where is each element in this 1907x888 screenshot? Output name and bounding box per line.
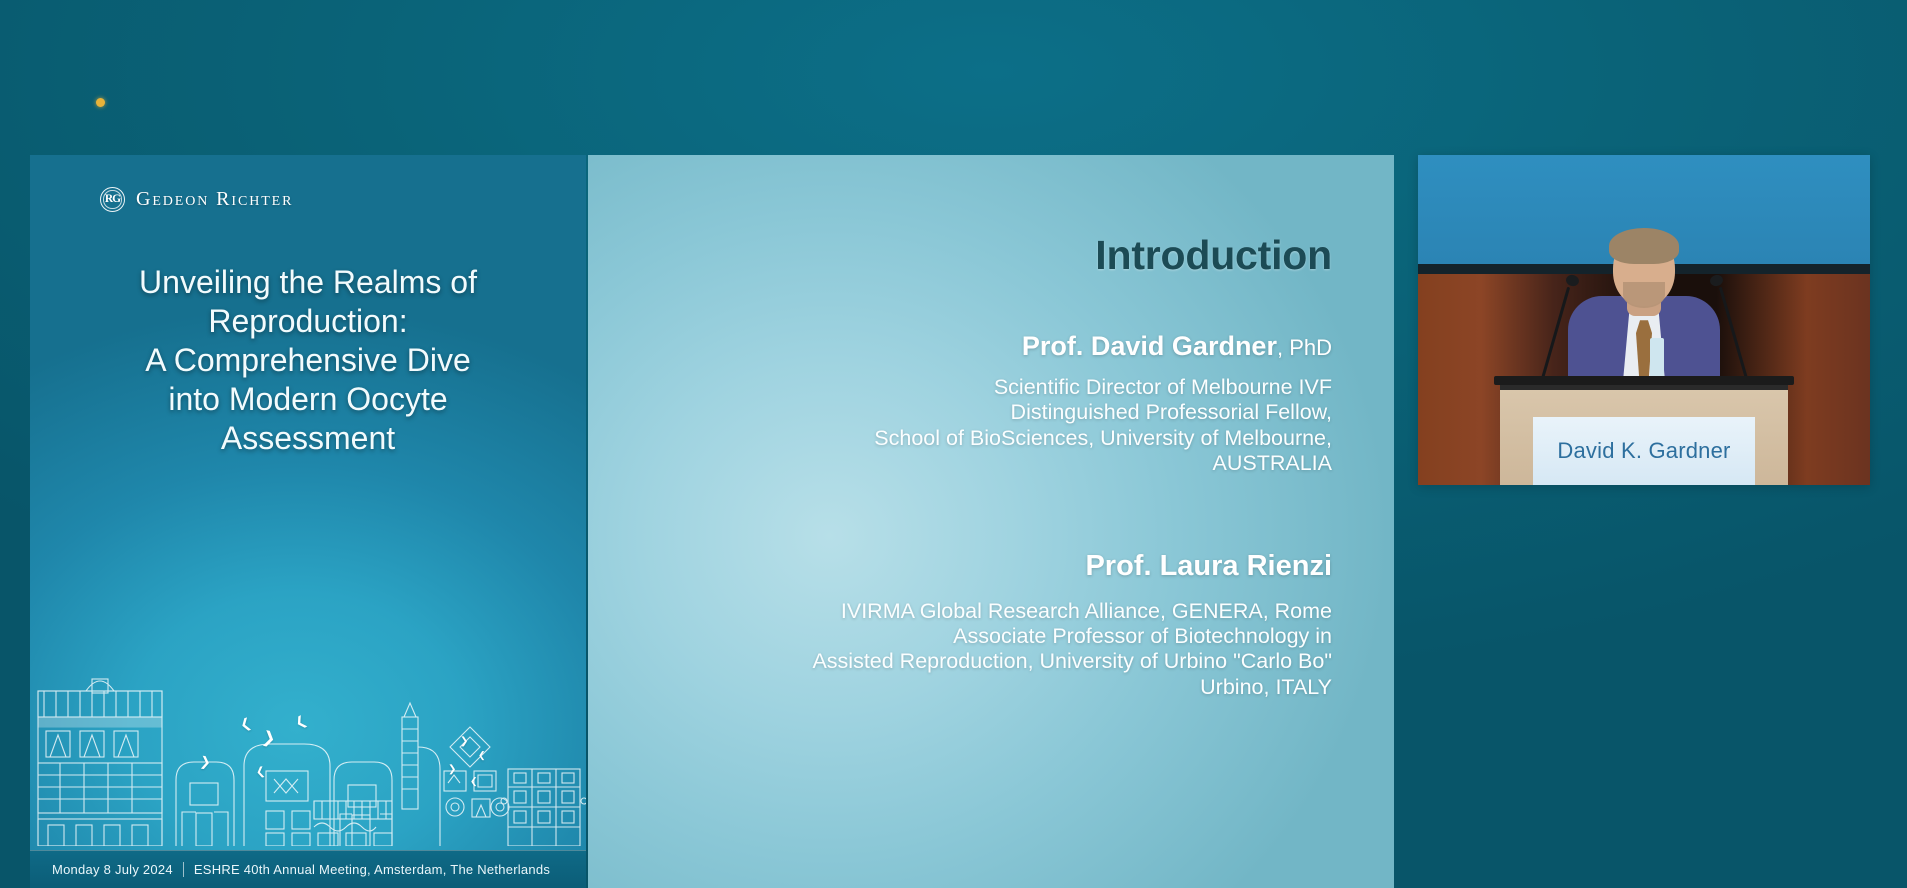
affiliation-line: Assisted Reproduction, University of Urb… bbox=[640, 649, 1332, 674]
speaker-block: Prof. David Gardner, PhD Scientific Dire… bbox=[640, 330, 1332, 476]
gedeon-richter-logo: RG Gedeon Richter bbox=[100, 187, 293, 212]
slide-title-line: Reproduction: bbox=[78, 302, 538, 341]
footer-date: Monday 8 July 2024 bbox=[52, 862, 173, 877]
slide-center-introduction[interactable]: Introduction Prof. David Gardner, PhD Sc… bbox=[588, 155, 1394, 888]
affiliation-line: School of BioSciences, University of Mel… bbox=[640, 426, 1332, 451]
podium-top-edge bbox=[1494, 376, 1794, 385]
slide-left-content: RG Gedeon Richter Unveiling the Realms o… bbox=[30, 155, 586, 888]
slide-left-title-slide[interactable]: RG Gedeon Richter Unveiling the Realms o… bbox=[30, 155, 586, 888]
speaker-name-text: Prof. David Gardner bbox=[1022, 331, 1277, 361]
slide-center-content: Introduction Prof. David Gardner, PhD Sc… bbox=[588, 155, 1394, 700]
speaker-beard bbox=[1623, 282, 1665, 308]
slide-footer-bar: Monday 8 July 2024 ESHRE 40th Annual Mee… bbox=[30, 850, 586, 888]
slide-title: Unveiling the Realms of Reproduction: A … bbox=[78, 263, 538, 458]
slide-footer-text: Monday 8 July 2024 ESHRE 40th Annual Mee… bbox=[52, 862, 550, 877]
slide-title-line: Assessment bbox=[78, 419, 538, 458]
podium: David K. Gardner bbox=[1500, 385, 1788, 485]
footer-event: ESHRE 40th Annual Meeting, Amsterdam, Th… bbox=[194, 862, 550, 877]
slide-title-line: into Modern Oocyte bbox=[78, 380, 538, 419]
gedeon-richter-wordmark: Gedeon Richter bbox=[136, 188, 293, 211]
gedeon-richter-mark-icon: RG bbox=[100, 187, 125, 212]
podium-nameplate-text: David K. Gardner bbox=[1557, 438, 1730, 464]
recording-status-dot bbox=[96, 98, 105, 107]
speaker-affiliation: Scientific Director of Melbourne IVF Dis… bbox=[640, 375, 1332, 476]
slide-title-line: A Comprehensive Dive bbox=[78, 341, 538, 380]
podium-nameplate: David K. Gardner bbox=[1533, 417, 1755, 485]
footer-separator bbox=[183, 862, 184, 877]
speaker-video-panel[interactable]: David K. Gardner bbox=[1418, 155, 1870, 485]
speaker-name: Prof. Laura Rienzi bbox=[640, 548, 1332, 584]
speaker-credential: , PhD bbox=[1277, 335, 1332, 360]
slide-heading: Introduction bbox=[640, 233, 1332, 278]
speaker-name-text: Prof. Laura Rienzi bbox=[1085, 550, 1332, 582]
affiliation-line: Urbino, ITALY bbox=[640, 675, 1332, 700]
affiliation-line: Distinguished Professorial Fellow, bbox=[640, 400, 1332, 425]
affiliation-line: AUSTRALIA bbox=[640, 451, 1332, 476]
affiliation-line: IVIRMA Global Research Alliance, GENERA,… bbox=[640, 599, 1332, 624]
affiliation-line: Scientific Director of Melbourne IVF bbox=[640, 375, 1332, 400]
amsterdam-skyline-illustration bbox=[30, 651, 586, 846]
affiliation-line: Associate Professor of Biotechnology in bbox=[640, 624, 1332, 649]
speaker-block: Prof. Laura Rienzi IVIRMA Global Researc… bbox=[640, 548, 1332, 700]
speaker-affiliation: IVIRMA Global Research Alliance, GENERA,… bbox=[640, 599, 1332, 700]
speaker-name: Prof. David Gardner, PhD bbox=[640, 330, 1332, 364]
gedeon-richter-monogram: RG bbox=[105, 194, 120, 206]
speaker-hair bbox=[1609, 228, 1679, 264]
video-stage-scene: David K. Gardner bbox=[1418, 155, 1870, 485]
slide-title-line: Unveiling the Realms of bbox=[78, 263, 538, 302]
